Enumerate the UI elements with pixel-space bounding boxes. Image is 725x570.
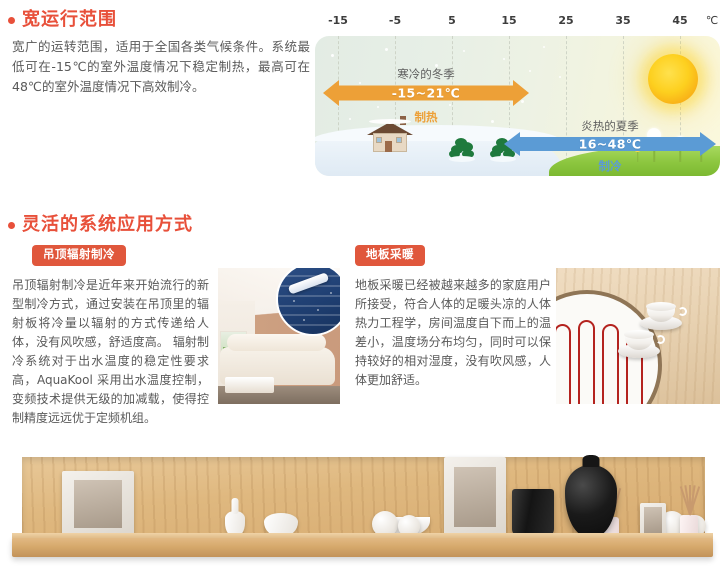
sun-icon [648, 54, 698, 104]
badge-floor-heating: 地板采暖 [355, 245, 425, 266]
badge-ceiling-radiant-cooling: 吊顶辐射制冷 [32, 245, 126, 266]
winter-mode-label: 制热 [323, 109, 529, 125]
ceiling-panel-inset-icon [276, 268, 340, 336]
reed-diffuser [602, 517, 619, 537]
temperature-axis: -15 -5 5 15 25 35 45 ℃ [315, 14, 720, 34]
decorative-ball [684, 515, 706, 537]
teacup-icon [618, 330, 664, 362]
section-1-heading: 宽运行范围 [8, 11, 117, 29]
black-patterned-cup [512, 489, 554, 537]
winter-range-arrow: -15~21℃ [323, 80, 529, 106]
axis-tick: -15 [328, 14, 348, 27]
white-vase [225, 511, 245, 537]
axis-tick: -5 [389, 14, 401, 27]
axis-tick: 15 [501, 14, 516, 27]
axis-tick: 35 [615, 14, 630, 27]
temperature-range-chart: -15 -5 5 15 25 35 45 ℃ [315, 14, 720, 176]
section-1-title: 宽运行范围 [22, 11, 117, 29]
floor-heating-photo [556, 268, 720, 404]
decorative-ball [659, 511, 685, 537]
section-2-heading: 灵活的系统应用方式 [8, 216, 193, 234]
climate-illustration-panel: 寒冷的冬季 -15~21℃ 制热 炎热的夏季 16~48℃ 制冷 [315, 36, 720, 176]
summer-mode-label: 制冷 [504, 158, 716, 174]
decor-shelf-banner [12, 447, 713, 565]
axis-tick: 45 [672, 14, 687, 27]
axis-tick: 25 [558, 14, 573, 27]
axis-tick: 5 [448, 14, 456, 27]
section-2-title: 灵活的系统应用方式 [22, 216, 193, 234]
section-1-body-text: 宽广的运转范围，适用于全国各类气候条件。系统最低可在-15℃的室外温度情况下稳定… [12, 37, 310, 97]
winter-range-value: -15~21℃ [323, 86, 529, 101]
summer-range-value: 16~48℃ [504, 137, 716, 152]
axis-unit-label: ℃ [706, 14, 718, 27]
bullet-icon [8, 222, 15, 229]
photo-frame-white [62, 471, 134, 537]
ceiling-radiant-cooling-text: 吊顶辐射制冷是近年来开始流行的新型制冷方式，通过安装在吊顶里的辐射板将冷量以辐射… [12, 276, 209, 428]
ceiling-radiant-photo [218, 268, 340, 404]
floor-heating-text: 地板采暖已经被越来越多的家庭用户所接受，符合人体的足暖头凉的人体热力工程学，房间… [355, 276, 551, 390]
summer-range-arrow: 16~48℃ [504, 132, 716, 156]
snow-tree-icon [449, 138, 475, 160]
bullet-icon [8, 17, 15, 24]
